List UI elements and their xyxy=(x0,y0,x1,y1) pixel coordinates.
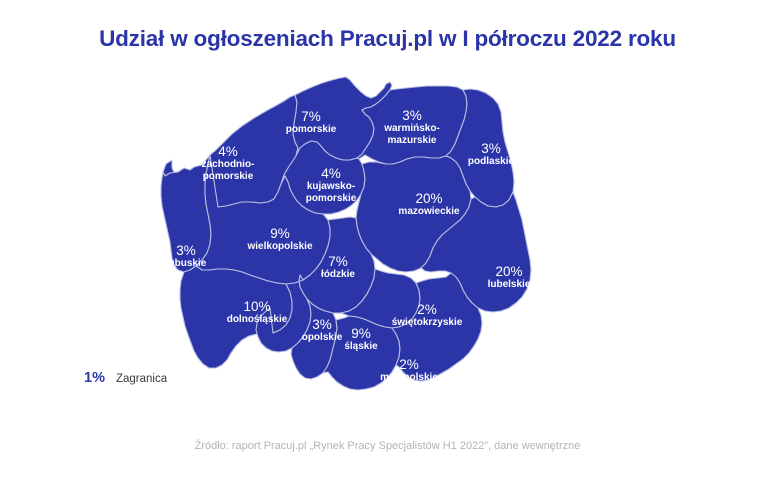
zagranica-label: Zagranica xyxy=(116,373,167,385)
poland-map: 4% zachodnio- pomorskie 7% pomorskie 3% … xyxy=(150,72,580,422)
zagranica-percent: 1% xyxy=(84,370,105,386)
legend-item-zagranica: 1% Zagranica xyxy=(84,370,167,386)
page-title: Udział w ogłoszeniach Pracuj.pl w I półr… xyxy=(0,26,775,52)
source-note: Źródło: raport Pracuj.pl „Rynek Pracy Sp… xyxy=(0,440,775,452)
map-svg xyxy=(150,72,580,422)
